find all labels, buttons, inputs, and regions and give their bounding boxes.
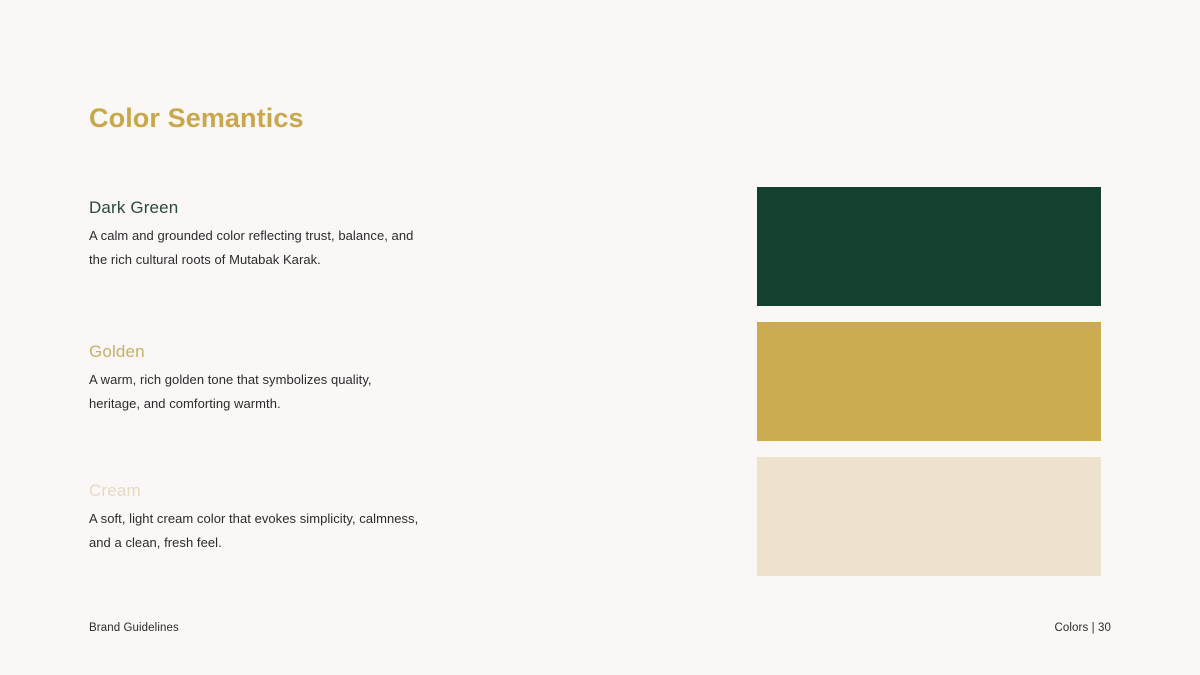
color-swatch-golden: [757, 322, 1101, 441]
semantic-name-golden: Golden: [89, 340, 372, 364]
semantic-description-line: the rich cultural roots of Mutabak Karak…: [89, 252, 321, 267]
footer-page-indicator: Colors | 30: [1055, 622, 1112, 634]
footer-brand-label: Brand Guidelines: [89, 622, 179, 634]
color-swatch-stack: [757, 187, 1101, 576]
slide-footer: Brand Guidelines Colors | 30: [89, 622, 1111, 634]
semantic-entry-cream: Cream A soft, light cream color that evo…: [89, 479, 418, 554]
color-swatch-dark-green: [757, 187, 1101, 306]
semantic-description-golden: A warm, rich golden tone that symbolizes…: [89, 368, 372, 415]
page-title: Color Semantics: [89, 101, 304, 135]
color-swatch-cream: [757, 457, 1101, 576]
semantic-description-line: A soft, light cream color that evokes si…: [89, 511, 418, 526]
semantic-name-cream: Cream: [89, 479, 418, 503]
slide-canvas: Color Semantics Dark Green A calm and gr…: [0, 0, 1200, 675]
semantic-description-line: A warm, rich golden tone that symbolizes…: [89, 372, 372, 387]
semantic-description-line: and a clean, fresh feel.: [89, 535, 222, 550]
semantic-description-line: A calm and grounded color reflecting tru…: [89, 228, 413, 243]
semantic-entry-dark-green: Dark Green A calm and grounded color ref…: [89, 196, 413, 271]
semantic-description-dark-green: A calm and grounded color reflecting tru…: [89, 224, 413, 271]
semantic-description-line: heritage, and comforting warmth.: [89, 396, 281, 411]
semantic-description-cream: A soft, light cream color that evokes si…: [89, 507, 418, 554]
semantic-entry-golden: Golden A warm, rich golden tone that sym…: [89, 340, 372, 415]
semantic-name-dark-green: Dark Green: [89, 196, 413, 220]
